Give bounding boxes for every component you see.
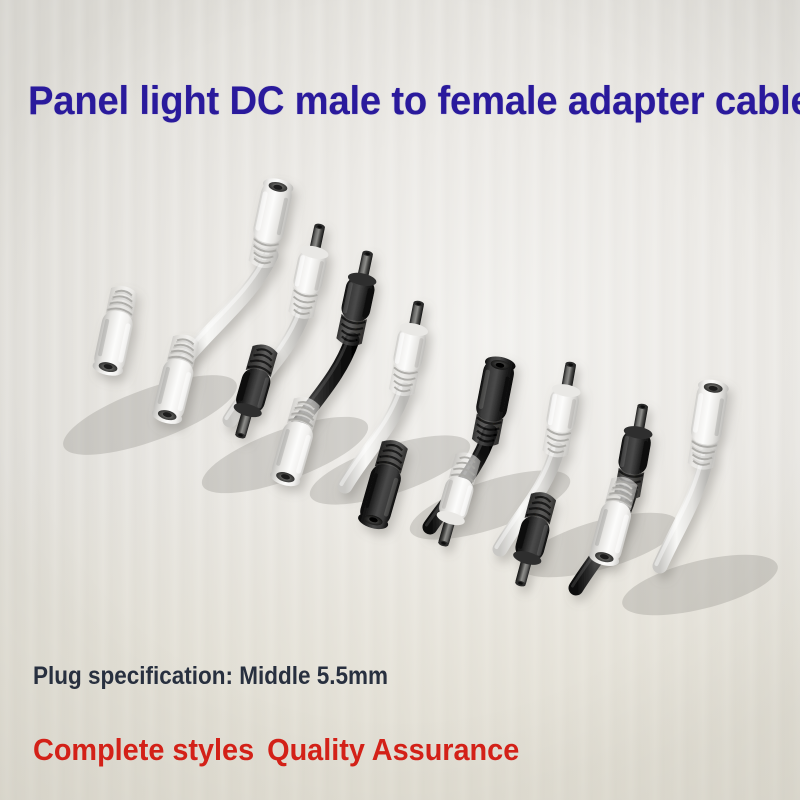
tagline-part-complete-styles: Complete styles	[33, 731, 254, 768]
tagline: Complete styles Quality Assurance	[33, 731, 519, 768]
plug-specification-text: Plug specification: Middle 5.5mm	[33, 661, 388, 691]
tagline-part-quality-assurance: Quality Assurance	[267, 731, 519, 768]
product-image: Panel light DC male to female adapter ca…	[0, 0, 800, 800]
page-title: Panel light DC male to female adapter ca…	[28, 78, 800, 124]
